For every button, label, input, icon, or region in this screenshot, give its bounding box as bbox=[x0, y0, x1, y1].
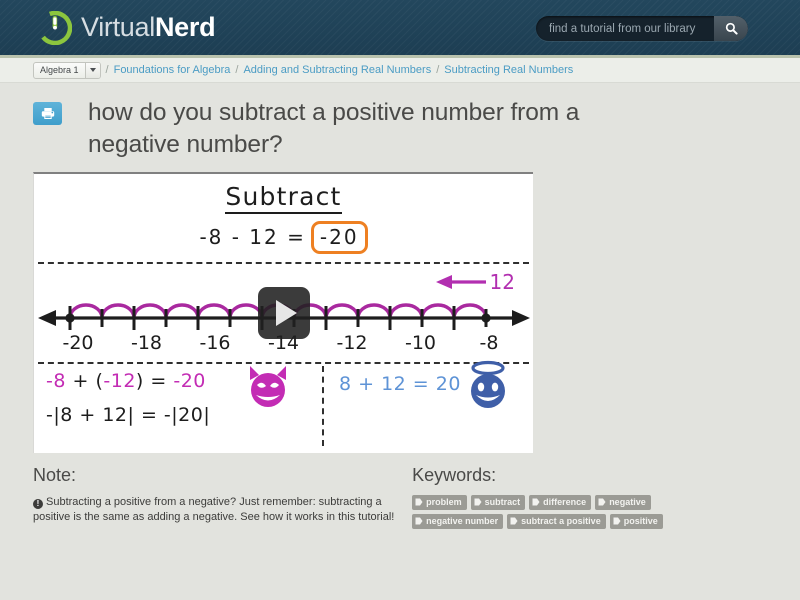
tick-label-2: -16 bbox=[193, 332, 237, 354]
note-heading: Note: bbox=[33, 465, 402, 486]
keyword-tag-negative-number[interactable]: negative number bbox=[412, 514, 503, 529]
tag-icon bbox=[598, 498, 606, 506]
note-keywords-row: Note: !Subtracting a positive from a neg… bbox=[33, 465, 673, 529]
angel-face-icon bbox=[464, 360, 512, 417]
course-select[interactable]: Algebra 1 bbox=[33, 62, 101, 79]
left-arrow-icon bbox=[436, 274, 488, 290]
logo-wordmark: VirtualNerd bbox=[81, 14, 215, 41]
left-equation-1: -8 + (-12) = -20 bbox=[46, 370, 210, 392]
keyword-tag-negative[interactable]: negative bbox=[595, 495, 651, 510]
info-icon: ! bbox=[33, 499, 43, 509]
keywords-list: problem subtract difference negative neg… bbox=[412, 495, 673, 529]
play-icon bbox=[276, 300, 297, 326]
keyword-tag-problem[interactable]: problem bbox=[412, 495, 467, 510]
keyword-tag-subtract[interactable]: subtract bbox=[471, 495, 526, 510]
breadcrumb-item-subtracting-real-numbers[interactable]: Subtracting Real Numbers bbox=[444, 64, 573, 76]
power-button-exclamation-icon bbox=[38, 11, 72, 45]
tick-label-4: -12 bbox=[330, 332, 374, 354]
title-row: how do you subtract a positive number fr… bbox=[0, 83, 800, 161]
tick-label-0: -20 bbox=[56, 332, 100, 354]
logo-word-nerd: Nerd bbox=[155, 12, 215, 42]
note-text: Subtracting a positive from a negative? … bbox=[33, 496, 394, 524]
breadcrumb-item-adding-subtracting[interactable]: Adding and Subtracting Real Numbers bbox=[243, 64, 431, 76]
tick-label-6: -8 bbox=[467, 332, 511, 354]
divider-top bbox=[38, 262, 529, 264]
keyword-label: subtract a positive bbox=[521, 516, 601, 526]
equation-answer: -20 bbox=[311, 221, 368, 254]
tick-label-5: -10 bbox=[399, 332, 443, 354]
left-eq-part-3: ) = bbox=[136, 370, 173, 392]
search-input[interactable] bbox=[536, 16, 714, 41]
keywords-heading: Keywords: bbox=[412, 465, 673, 486]
left-eq-part-4: -20 bbox=[173, 370, 206, 392]
keyword-label: difference bbox=[543, 497, 586, 507]
keyword-tag-difference[interactable]: difference bbox=[529, 495, 591, 510]
tag-icon bbox=[532, 498, 540, 506]
page-title: how do you subtract a positive number fr… bbox=[88, 97, 648, 161]
course-select-label: Algebra 1 bbox=[34, 63, 85, 78]
tag-icon bbox=[415, 517, 423, 525]
site-logo[interactable]: VirtualNerd bbox=[38, 11, 215, 45]
jump-arrow-value: 12 bbox=[490, 270, 515, 294]
devil-face-icon bbox=[246, 364, 290, 415]
whiteboard-title-text: Subtract bbox=[225, 182, 341, 214]
whiteboard-main-equation: -8 - 12 =-20 bbox=[34, 221, 533, 254]
equation-left: -8 - 12 = bbox=[199, 225, 305, 249]
tag-icon bbox=[415, 498, 423, 506]
whiteboard-left-work: -8 + (-12) = -20 -|8 + 12| = -|20| bbox=[46, 370, 210, 426]
breadcrumb-separator-1: / bbox=[235, 64, 238, 76]
note-body: !Subtracting a positive from a negative?… bbox=[33, 495, 395, 526]
left-eq-part-1: + ( bbox=[66, 370, 103, 392]
whiteboard-vertical-divider bbox=[322, 366, 324, 446]
keyword-tag-subtract-a-positive[interactable]: subtract a positive bbox=[507, 514, 606, 529]
logo-word-virtual: Virtual bbox=[81, 12, 155, 42]
site-header: VirtualNerd bbox=[0, 0, 800, 58]
search-icon bbox=[725, 22, 738, 35]
breadcrumb-separator-0: / bbox=[106, 64, 109, 76]
main-content: how do you subtract a positive number fr… bbox=[0, 83, 800, 529]
left-eq-part-0: -8 bbox=[46, 370, 66, 392]
whiteboard-title: Subtract bbox=[34, 182, 533, 211]
keyword-label: problem bbox=[426, 497, 462, 507]
tick-label-1: -18 bbox=[125, 332, 169, 354]
tag-icon bbox=[510, 517, 518, 525]
left-eq-part-2: -12 bbox=[103, 370, 136, 392]
note-section: Note: !Subtracting a positive from a neg… bbox=[33, 465, 402, 529]
jump-arrow-label: 12 bbox=[436, 270, 515, 294]
search-button[interactable] bbox=[714, 16, 748, 41]
keyword-label: subtract bbox=[485, 497, 521, 507]
video-player[interactable]: Subtract -8 - 12 =-20 12 bbox=[33, 172, 533, 453]
left-equation-2: -|8 + 12| = -|20| bbox=[46, 404, 210, 426]
search-box[interactable] bbox=[536, 16, 748, 41]
breadcrumb: Algebra 1 / Foundations for Algebra / Ad… bbox=[0, 58, 800, 83]
right-equation-1: 8 + 12 = 20 bbox=[339, 373, 461, 395]
keywords-section: Keywords: problem subtract difference ne… bbox=[412, 465, 673, 529]
keyword-label: negative number bbox=[426, 516, 498, 526]
keyword-label: negative bbox=[609, 497, 646, 507]
tag-icon bbox=[613, 517, 621, 525]
breadcrumb-separator-2: / bbox=[436, 64, 439, 76]
keyword-label: positive bbox=[624, 516, 658, 526]
keyword-tag-positive[interactable]: positive bbox=[610, 514, 663, 529]
chevron-down-icon[interactable] bbox=[85, 63, 100, 78]
printer-icon bbox=[41, 107, 55, 120]
print-button[interactable] bbox=[33, 102, 62, 125]
play-button[interactable] bbox=[258, 287, 310, 339]
tag-icon bbox=[474, 498, 482, 506]
breadcrumb-item-foundations[interactable]: Foundations for Algebra bbox=[114, 64, 231, 76]
